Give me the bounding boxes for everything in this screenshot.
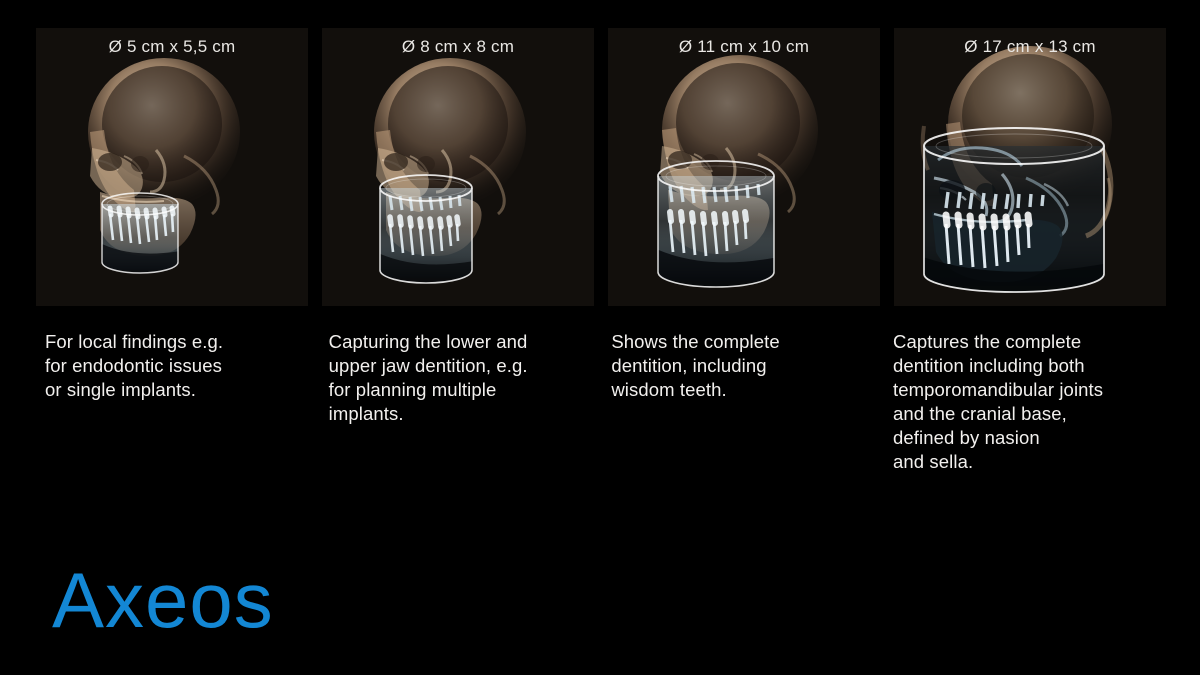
- panel-title: Ø 17 cm x 13 cm: [894, 37, 1166, 57]
- fov-panel-5x55[interactable]: Ø 5 cm x 5,5 cm: [36, 28, 308, 306]
- fov-caption-11x10: Shows the complete dentition, including …: [603, 330, 872, 520]
- skull-xray-image-4: [894, 28, 1166, 306]
- skull-xray-image-1: [36, 28, 308, 306]
- panel-title: Ø 8 cm x 8 cm: [322, 37, 594, 57]
- slide-root: Ø 5 cm x 5,5 cm: [0, 0, 1200, 675]
- skull-xray-image-2: [322, 28, 594, 306]
- product-logo-axeos: Axeos: [52, 557, 274, 643]
- fov-panel-row: Ø 5 cm x 5,5 cm: [36, 28, 1166, 306]
- fov-panel-8x8[interactable]: Ø 8 cm x 8 cm: [322, 28, 594, 306]
- fov-panel-11x10[interactable]: Ø 11 cm x 10 cm: [608, 28, 880, 306]
- fov-panel-17x13[interactable]: Ø 17 cm x 13 cm: [894, 28, 1166, 306]
- skull-xray-image-3: [608, 28, 880, 306]
- fov-caption-8x8: Capturing the lower and upper jaw dentit…: [320, 330, 590, 520]
- fov-caption-17x13: Captures the complete dentition includin…: [886, 330, 1176, 520]
- panel-title: Ø 11 cm x 10 cm: [608, 37, 880, 57]
- panel-title: Ø 5 cm x 5,5 cm: [36, 37, 308, 57]
- caption-row: For local findings e.g. for endodontic i…: [36, 330, 1176, 520]
- fov-caption-5x55: For local findings e.g. for endodontic i…: [36, 330, 306, 520]
